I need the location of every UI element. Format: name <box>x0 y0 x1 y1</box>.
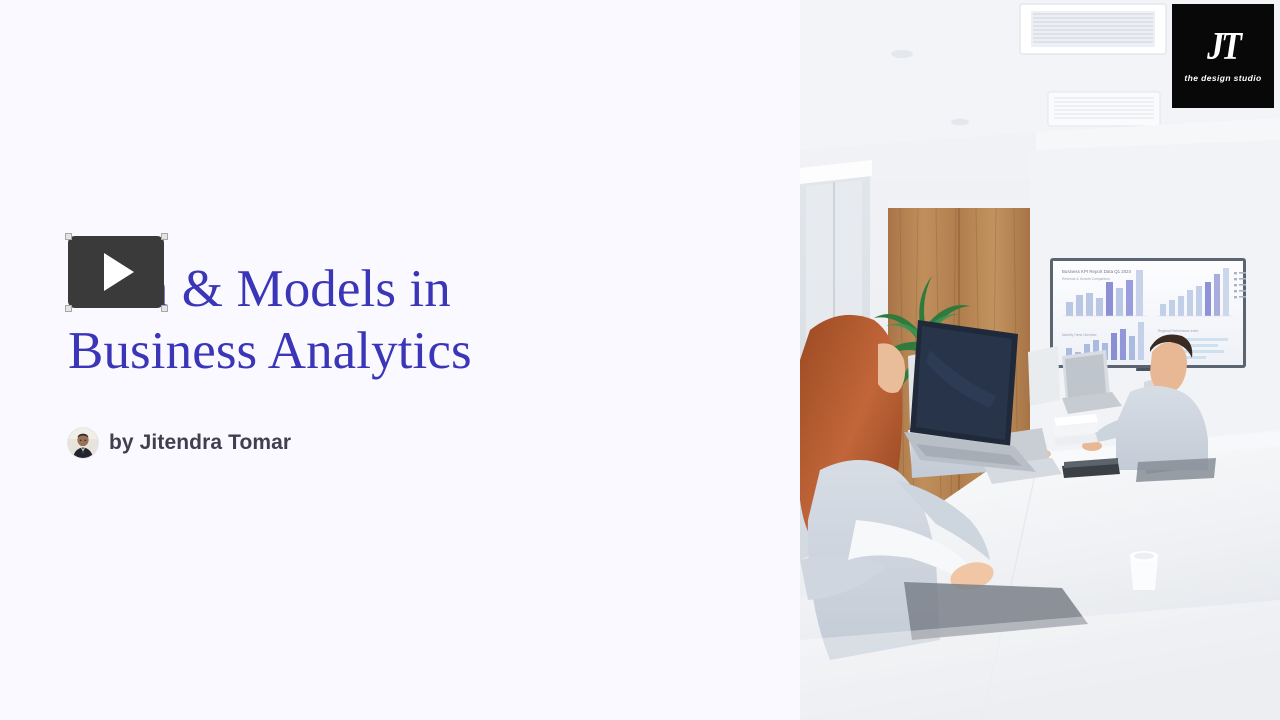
scene-illustration: Business KPI Report Data Q1 2024 Revenue… <box>800 0 1280 720</box>
resize-handle-top-left[interactable] <box>65 233 72 240</box>
byline: by Jitendra Tomar <box>68 428 728 458</box>
byline-author-name: by Jitendra Tomar <box>109 431 291 455</box>
svg-text:Monthly Trend Overview: Monthly Trend Overview <box>1062 333 1097 337</box>
avatar <box>68 428 98 458</box>
recessed-downlight-2 <box>951 119 969 126</box>
ceiling-air-vent <box>1020 4 1166 54</box>
recessed-downlight <box>891 50 913 58</box>
svg-text:Regional Performance Index: Regional Performance Index <box>1158 329 1199 333</box>
desk-mat-back <box>1136 458 1216 482</box>
ceiling-air-vent-secondary <box>1048 92 1160 126</box>
coffee-cup <box>1130 551 1158 590</box>
presentation-slide: Data & Models inBusiness Analytics <box>0 0 1280 720</box>
logo-tagline: the design studio <box>1184 73 1261 83</box>
title-line-2: Business Analytics <box>68 322 472 380</box>
title-block: Data & Models inBusiness Analytics <box>68 258 728 458</box>
video-placeholder[interactable] <box>68 236 164 308</box>
resize-handle-bottom-left[interactable] <box>65 305 72 312</box>
paper-stack <box>1054 414 1098 446</box>
resize-handle-bottom-right[interactable] <box>161 305 168 312</box>
brand-logo: JT the design studio <box>1172 4 1274 108</box>
meeting-room-photo: Business KPI Report Data Q1 2024 Revenue… <box>800 0 1280 720</box>
play-icon[interactable] <box>104 253 134 291</box>
title-panel: Data & Models inBusiness Analytics <box>0 0 800 720</box>
resize-handle-top-right[interactable] <box>161 233 168 240</box>
svg-text:Revenue & Growth Comparison: Revenue & Growth Comparison <box>1062 277 1110 281</box>
logo-monogram: JT <box>1207 27 1239 66</box>
svg-text:Business KPI Report Data Q1 20: Business KPI Report Data Q1 2024 <box>1062 269 1132 274</box>
